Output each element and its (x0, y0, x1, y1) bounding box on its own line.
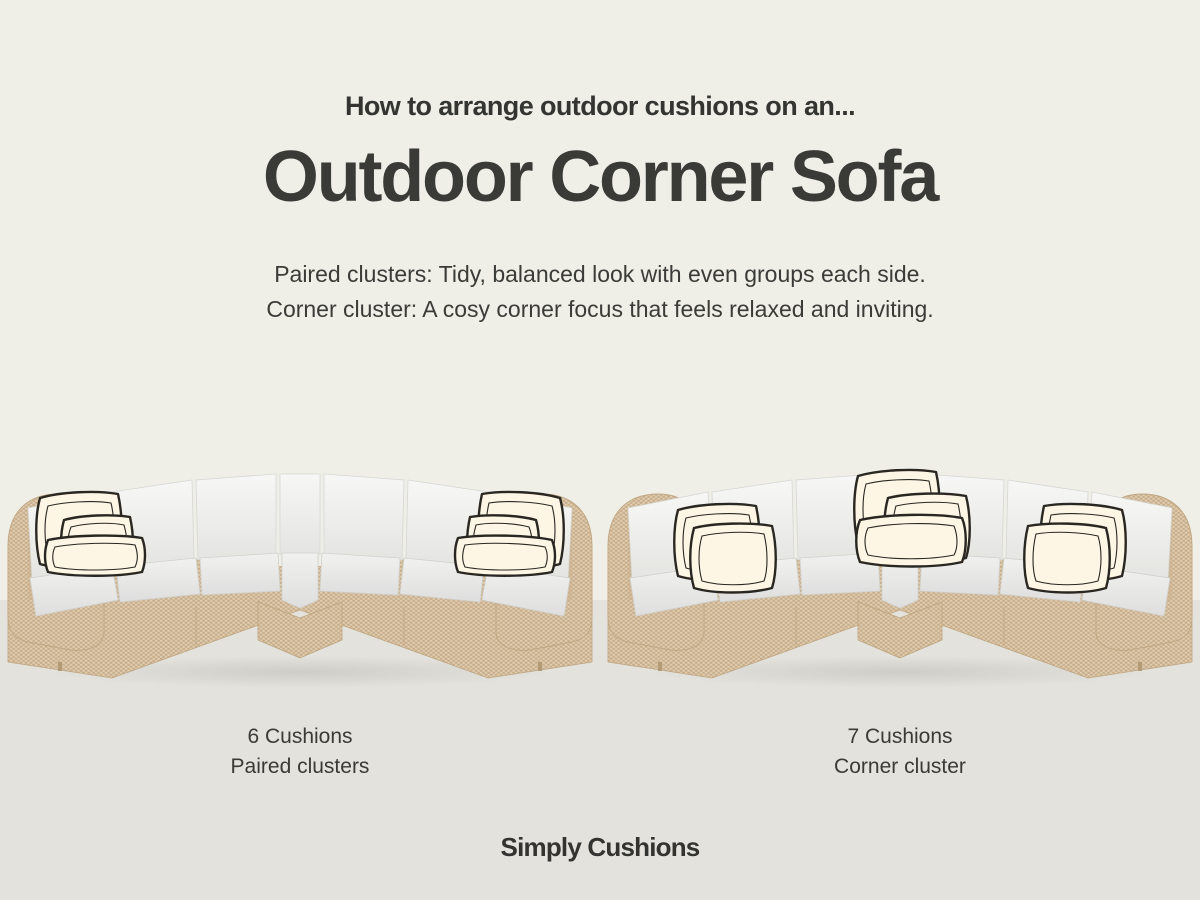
seat-cushion (200, 553, 280, 595)
arrangement-style-label: Paired clusters (0, 752, 600, 782)
back-cushion-corner (280, 474, 320, 554)
sofa-option-paired-clusters[interactable] (0, 450, 600, 700)
arrangement-style-label: Corner cluster (600, 752, 1200, 782)
back-cushion (196, 474, 276, 560)
sofa-foot (658, 662, 662, 671)
cushion-count-label: 7 Cushions (600, 722, 1200, 752)
header: How to arrange outdoor cushions on an...… (0, 0, 1200, 327)
sofa-foot (58, 662, 62, 671)
subtitle-line-1: Paired clusters: Tidy, balanced look wit… (0, 257, 1200, 292)
corner-sofa-illustration-left (0, 450, 600, 700)
sofa-option-corner-cluster[interactable] (600, 450, 1200, 700)
subtitle-line-2: Corner cluster: A cosy corner focus that… (0, 292, 1200, 327)
sofa-foot (1138, 662, 1142, 671)
sofa-foot (538, 662, 542, 671)
back-cushion (324, 474, 404, 560)
seat-cushion-corner (282, 553, 318, 608)
page-title: Outdoor Corner Sofa (0, 140, 1200, 216)
seat-cushion (320, 553, 400, 595)
sofa-stage (0, 450, 1200, 700)
cushion-count-label: 6 Cushions (0, 722, 600, 752)
captions-row: 6 Cushions Paired clusters 7 Cushions Co… (0, 722, 1200, 783)
corner-sofa-illustration-right (600, 450, 1200, 700)
infographic-page: How to arrange outdoor cushions on an...… (0, 0, 1200, 900)
caption-corner-cluster: 7 Cushions Corner cluster (600, 722, 1200, 783)
subtitle: Paired clusters: Tidy, balanced look wit… (0, 257, 1200, 327)
caption-paired-clusters: 6 Cushions Paired clusters (0, 722, 600, 783)
brand-wordmark: Simply Cushions (0, 832, 1200, 863)
eyebrow-text: How to arrange outdoor cushions on an... (0, 92, 1200, 122)
